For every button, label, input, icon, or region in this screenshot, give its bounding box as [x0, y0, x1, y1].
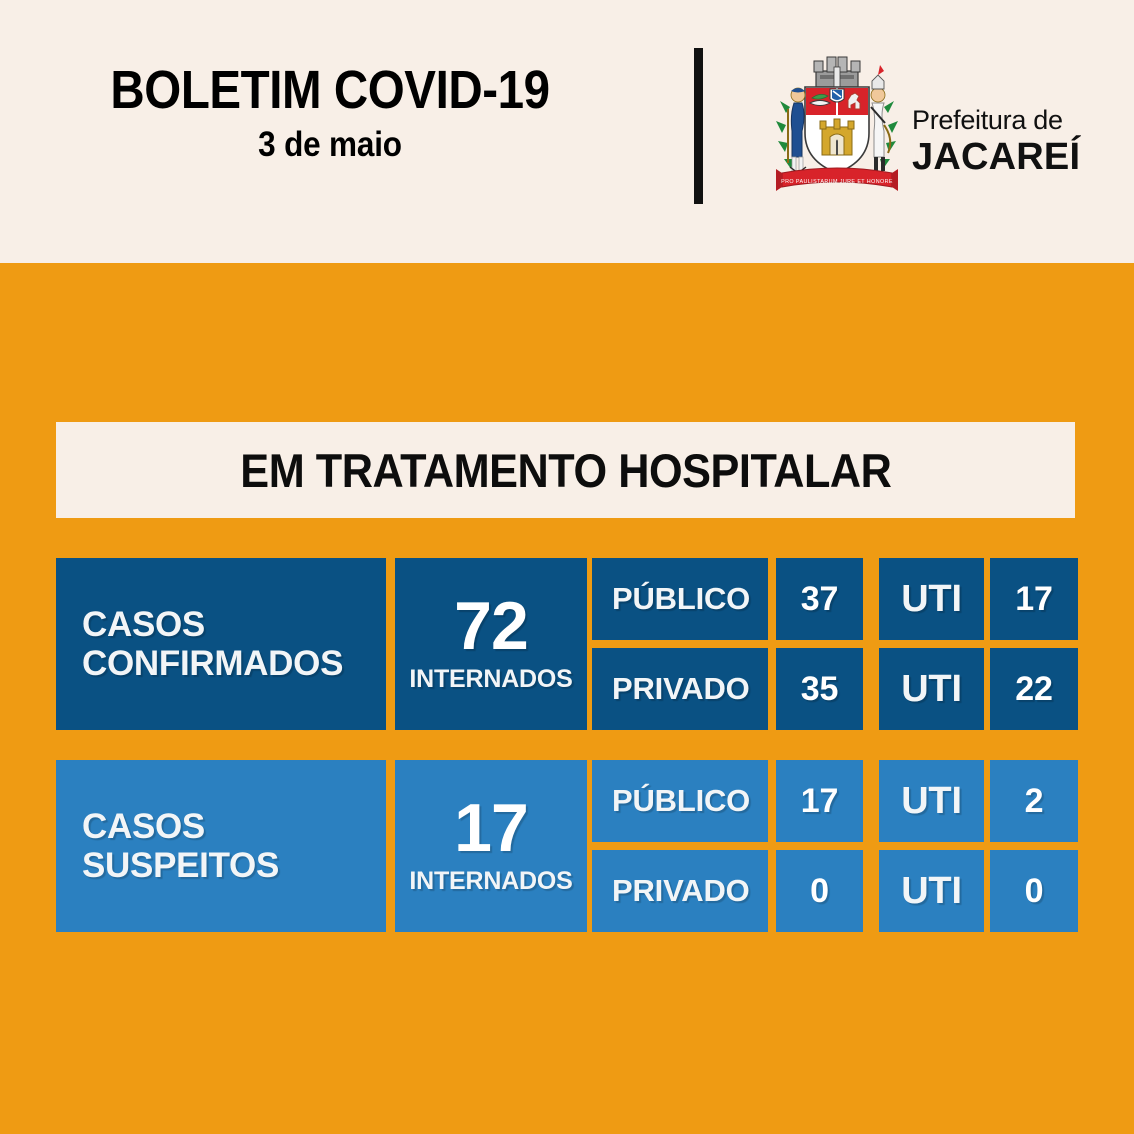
section-banner: EM TRATAMENTO HOSPITALAR — [56, 422, 1075, 518]
stats-row-confirmed: CASOS CONFIRMADOS 72 INTERNADOS PÚBLICO … — [56, 558, 1078, 730]
brand-city-name: JACAREÍ — [912, 138, 1080, 176]
total-cell-confirmed: 72 INTERNADOS — [395, 558, 587, 730]
total-cell-suspect: 17 INTERNADOS — [395, 760, 587, 932]
category-label-line2: CONFIRMADOS — [82, 644, 343, 683]
total-number: 17 — [454, 796, 528, 861]
brand-block: PRO PAULISTARUM JURE ET HONORE Prefeitur… — [772, 45, 1072, 200]
section-banner-title: EM TRATAMENTO HOSPITALAR — [240, 443, 891, 498]
covid-bulletin-poster: BOLETIM COVID-19 3 de maio — [0, 0, 1134, 1134]
sector-count-cell: 35 — [776, 648, 863, 730]
uti-count-cell: 22 — [990, 648, 1078, 730]
uti-label-cell: UTI — [879, 850, 984, 932]
total-number: 72 — [454, 594, 528, 659]
sector-label: PRIVADO — [612, 873, 750, 909]
sector-cell: PRIVADO — [592, 648, 768, 730]
sector-count-cell: 0 — [776, 850, 863, 932]
uti-label-cell: UTI — [879, 760, 984, 842]
uti-count-cell: 0 — [990, 850, 1078, 932]
sector-count: 37 — [801, 580, 838, 619]
category-label-text: CASOS SUSPEITOS — [82, 807, 279, 885]
sector-label: PÚBLICO — [612, 783, 750, 819]
total-caption: INTERNADOS — [409, 867, 572, 896]
sector-cell: PRIVADO — [592, 850, 768, 932]
uti-label: UTI — [901, 870, 962, 913]
uti-count: 22 — [1015, 670, 1052, 709]
uti-label-cell: UTI — [879, 558, 984, 640]
brand-prefeitura-label: Prefeitura de — [912, 107, 1080, 134]
sector-cell: PÚBLICO — [592, 558, 768, 640]
brand-text: Prefeitura de JACAREÍ — [912, 107, 1080, 176]
sector-cell: PÚBLICO — [592, 760, 768, 842]
breakdown-line-publico: PÚBLICO 17 UTI 2 — [592, 760, 1078, 842]
category-label-line1: CASOS — [82, 807, 205, 846]
category-label-line1: CASOS — [82, 605, 205, 644]
sector-count-cell: 17 — [776, 760, 863, 842]
uti-count-cell: 17 — [990, 558, 1078, 640]
category-label-line2: SUSPEITOS — [82, 846, 279, 885]
category-label-cell-suspect: CASOS SUSPEITOS — [56, 760, 386, 932]
uti-count: 2 — [1025, 782, 1044, 821]
sector-count: 35 — [801, 670, 838, 709]
uti-label: UTI — [901, 668, 962, 711]
breakdown-line-publico: PÚBLICO 37 UTI 17 — [592, 558, 1078, 640]
jacarei-coat-of-arms-icon: PRO PAULISTARUM JURE ET HONORE — [772, 45, 902, 197]
page-date: 3 de maio — [33, 125, 627, 165]
category-label-text: CASOS CONFIRMADOS — [82, 605, 343, 683]
sector-count-cell: 37 — [776, 558, 863, 640]
uti-count: 17 — [1015, 580, 1052, 619]
total-caption: INTERNADOS — [409, 665, 572, 694]
breakdown-grid-confirmed: PÚBLICO 37 UTI 17 PRIVADO 35 — [592, 558, 1078, 730]
sector-count: 0 — [810, 872, 829, 911]
sector-label: PRIVADO — [612, 671, 750, 707]
poster-header: BOLETIM COVID-19 3 de maio — [0, 0, 1134, 263]
header-title-block: BOLETIM COVID-19 3 de maio — [0, 62, 660, 165]
stats-row-suspect: CASOS SUSPEITOS 17 INTERNADOS PÚBLICO 17… — [56, 760, 1078, 932]
uti-label: UTI — [901, 780, 962, 823]
breakdown-line-privado: PRIVADO 35 UTI 22 — [592, 648, 1078, 730]
uti-count-cell: 2 — [990, 760, 1078, 842]
breakdown-grid-suspect: PÚBLICO 17 UTI 2 PRIVADO 0 — [592, 760, 1078, 932]
category-label-cell-confirmed: CASOS CONFIRMADOS — [56, 558, 386, 730]
crest-motto-text: PRO PAULISTARUM JURE ET HONORE — [781, 179, 893, 185]
page-title: BOLETIM COVID-19 — [40, 62, 621, 118]
sector-label: PÚBLICO — [612, 581, 750, 617]
uti-label-cell: UTI — [879, 648, 984, 730]
uti-label: UTI — [901, 578, 962, 621]
header-divider — [694, 48, 703, 204]
uti-count: 0 — [1025, 872, 1044, 911]
sector-count: 17 — [801, 782, 838, 821]
breakdown-line-privado: PRIVADO 0 UTI 0 — [592, 850, 1078, 932]
